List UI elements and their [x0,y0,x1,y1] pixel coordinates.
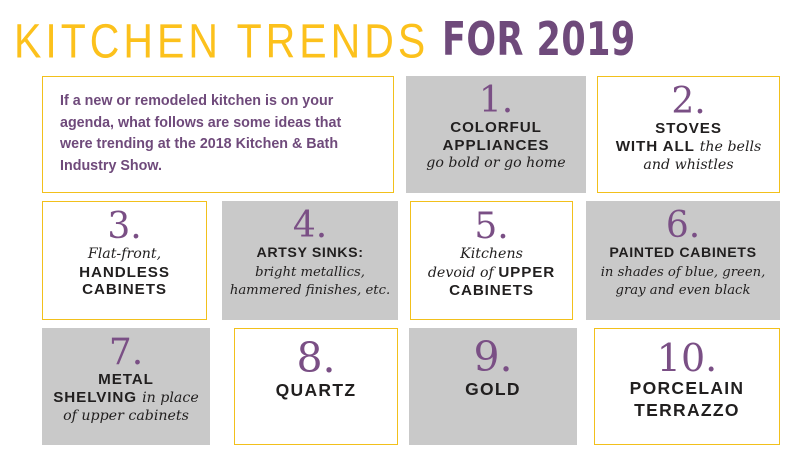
trend-card-8: 8.QUARTZ [234,328,398,445]
trend-text: METALSHELVING in placeof upper cabinets [42,371,210,426]
trend-headline: PAINTED CABINETS [609,245,756,261]
trend-headline: WITH ALL [616,138,700,155]
trend-text-line: ARTSY SINKS: [226,244,394,263]
trend-headline: COLORFUL [450,119,542,136]
trend-number: 10. [657,339,717,377]
trend-text-line: CABINETS [415,282,568,300]
trend-card-6: 6.PAINTED CABINETSin shades of blue, gre… [586,201,780,320]
trend-text: Kitchensdevoid of UPPERCABINETS [411,245,572,300]
trend-text-line: STOVES [602,120,775,138]
trend-text-line: devoid of UPPER [415,264,568,283]
trend-text-line: Kitchens [415,245,568,264]
trend-headline: APPLIANCES [443,137,550,154]
trend-number: 3. [107,209,141,245]
trend-text: STOVESWITH ALL the bellsand whistles [598,120,779,175]
trend-headline: CABINETS [449,282,534,299]
trend-text: Flat-front,HANDLESSCABINETS [43,245,206,299]
trend-headline: ARTSY SINKS: [256,245,363,261]
trend-text-line: and whistles [602,156,775,175]
trend-subtext: Flat-front, [88,246,161,262]
trend-text-line: WITH ALL the bells [602,138,775,157]
trend-text: GOLD [409,378,577,400]
trend-card-7: 7.METALSHELVING in placeof upper cabinet… [42,328,210,445]
trend-text: QUARTZ [235,379,397,401]
trend-text-line: go bold or go home [410,154,582,173]
trend-subtext: in shades of blue, green, [601,265,766,280]
trend-number: 4. [293,208,327,244]
trend-card-1: 1.COLORFULAPPLIANCESgo bold or go home [406,76,586,193]
trend-subtext: Kitchens [460,246,523,262]
trend-number: 7. [109,335,143,371]
trend-number: 5. [474,209,508,245]
trend-subtext: bright metallics, [255,265,365,280]
trend-text-line: GOLD [413,378,573,400]
trend-number: 6. [666,208,700,244]
trend-headline: TERRAZZO [634,400,740,420]
trend-text-line: PORCELAIN [599,377,775,399]
trend-text-line: COLORFUL [410,119,582,137]
trend-text-line: in shades of blue, green, [590,263,776,282]
trend-card-4: 4.ARTSY SINKS:bright metallics,hammered … [222,201,398,320]
trend-card-9: 9.GOLD [409,328,577,445]
trend-text-line: SHELVING in place [46,389,206,408]
trend-headline: GOLD [465,379,521,399]
trend-number: 8. [296,338,335,379]
trend-subtext: devoid of [428,265,498,281]
trend-card-5: 5.Kitchensdevoid of UPPERCABINETS [410,201,573,320]
trend-headline: CABINETS [82,281,167,298]
trend-headline: HANDLESS [79,264,170,281]
intro-box: If a new or remodeled kitchen is on your… [42,76,394,193]
trend-number: 2. [671,84,705,120]
trend-text-line: PAINTED CABINETS [590,244,776,263]
trend-subtext: go bold or go home [426,155,565,171]
trend-text: COLORFULAPPLIANCESgo bold or go home [406,119,586,173]
trend-text-line: APPLIANCES [410,137,582,155]
trend-subtext: gray and even black [616,283,751,298]
trend-subtext: and whistles [643,157,733,173]
trend-text: PORCELAINTERRAZZO [595,377,779,421]
trend-text-line: CABINETS [47,281,202,299]
trend-text: PAINTED CABINETSin shades of blue, green… [586,244,780,300]
trend-headline: QUARTZ [276,380,357,400]
trend-text-line: QUARTZ [239,379,393,401]
trend-card-2: 2.STOVESWITH ALL the bellsand whistles [597,76,780,193]
page-title-secondary: FOR 2019 [442,14,636,66]
trend-text-line: HANDLESS [47,264,202,282]
trend-text-line: gray and even black [590,281,776,300]
intro-text: If a new or remodeled kitchen is on your… [60,91,376,177]
trend-text-line: Flat-front, [47,245,202,264]
page-title-primary: KITCHEN TRENDS [14,16,429,66]
trend-card-10: 10.PORCELAINTERRAZZO [594,328,780,445]
trend-headline: STOVES [655,120,722,137]
trend-text-line: METAL [46,371,206,389]
trend-card-3: 3.Flat-front,HANDLESSCABINETS [42,201,207,320]
trend-text-line: bright metallics, [226,263,394,282]
trend-subtext: in place [142,390,199,406]
trend-number: 9. [473,337,512,378]
trend-subtext: of upper cabinets [63,408,189,424]
trend-headline: PORCELAIN [630,378,745,398]
trend-text-line: of upper cabinets [46,407,206,426]
trend-number: 1. [479,83,513,119]
infographic-canvas: KITCHEN TRENDS FOR 2019 If a new or remo… [0,0,800,461]
trend-subtext: hammered finishes, etc. [230,283,390,298]
trend-text: ARTSY SINKS:bright metallics,hammered fi… [222,244,398,300]
trend-headline: SHELVING [53,389,142,406]
trend-text-line: hammered finishes, etc. [226,281,394,300]
trend-headline: UPPER [498,264,555,281]
page-title: KITCHEN TRENDS FOR 2019 [14,8,786,66]
trend-headline: METAL [98,371,154,388]
trend-text-line: TERRAZZO [599,399,775,421]
trend-subtext: the bells [700,139,762,155]
